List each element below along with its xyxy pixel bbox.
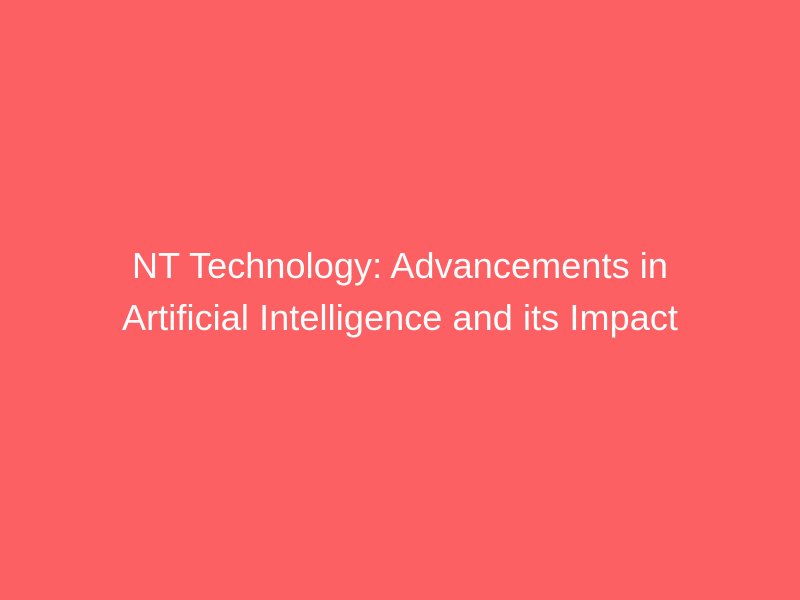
banner-title: NT Technology: Advancements in Artificia… [80,240,720,344]
article-banner: NT Technology: Advancements in Artificia… [0,0,800,600]
